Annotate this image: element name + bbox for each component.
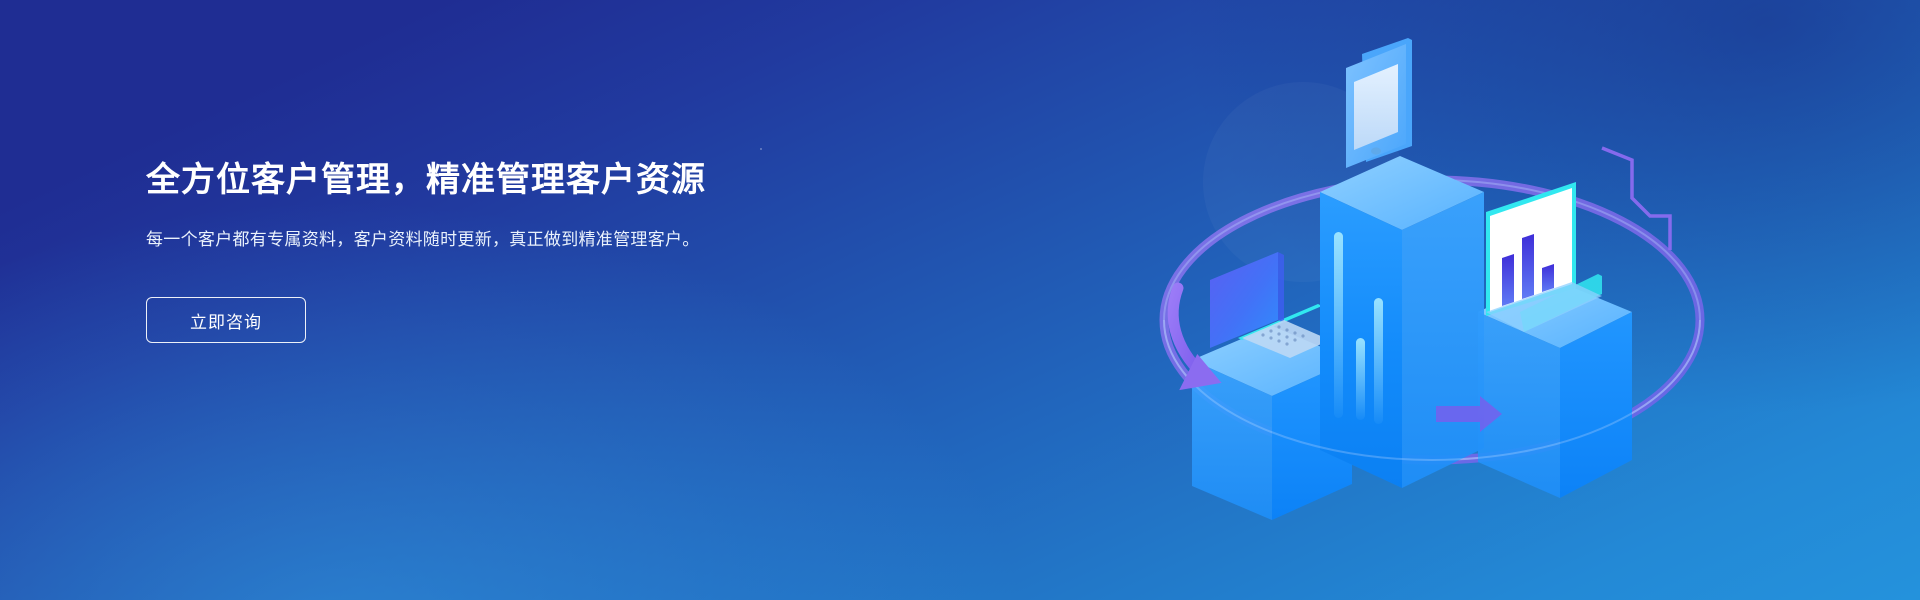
- tablet: [1346, 38, 1412, 168]
- page-title: 全方位客户管理，精准管理客户资源: [146, 160, 766, 201]
- center-pillar: [1320, 156, 1484, 488]
- consult-now-button[interactable]: 立即咨询: [146, 297, 306, 343]
- isometric-crm-illustration: [1150, 20, 1710, 600]
- decorative-dot: [760, 148, 762, 150]
- laptop: [1210, 252, 1330, 358]
- tablet-home-button: [1371, 147, 1381, 154]
- hero-copy-block: 全方位客户管理，精准管理客户资源 每一个客户都有专属资料，客户资料随时更新，真正…: [146, 160, 766, 343]
- hero-subtitle: 每一个客户都有专属资料，客户资料随时更新，真正做到精准管理客户。: [146, 227, 746, 253]
- hero-banner: 全方位客户管理，精准管理客户资源 每一个客户都有专属资料，客户资料随时更新，真正…: [0, 0, 1920, 600]
- zigzag-line: [1602, 148, 1670, 250]
